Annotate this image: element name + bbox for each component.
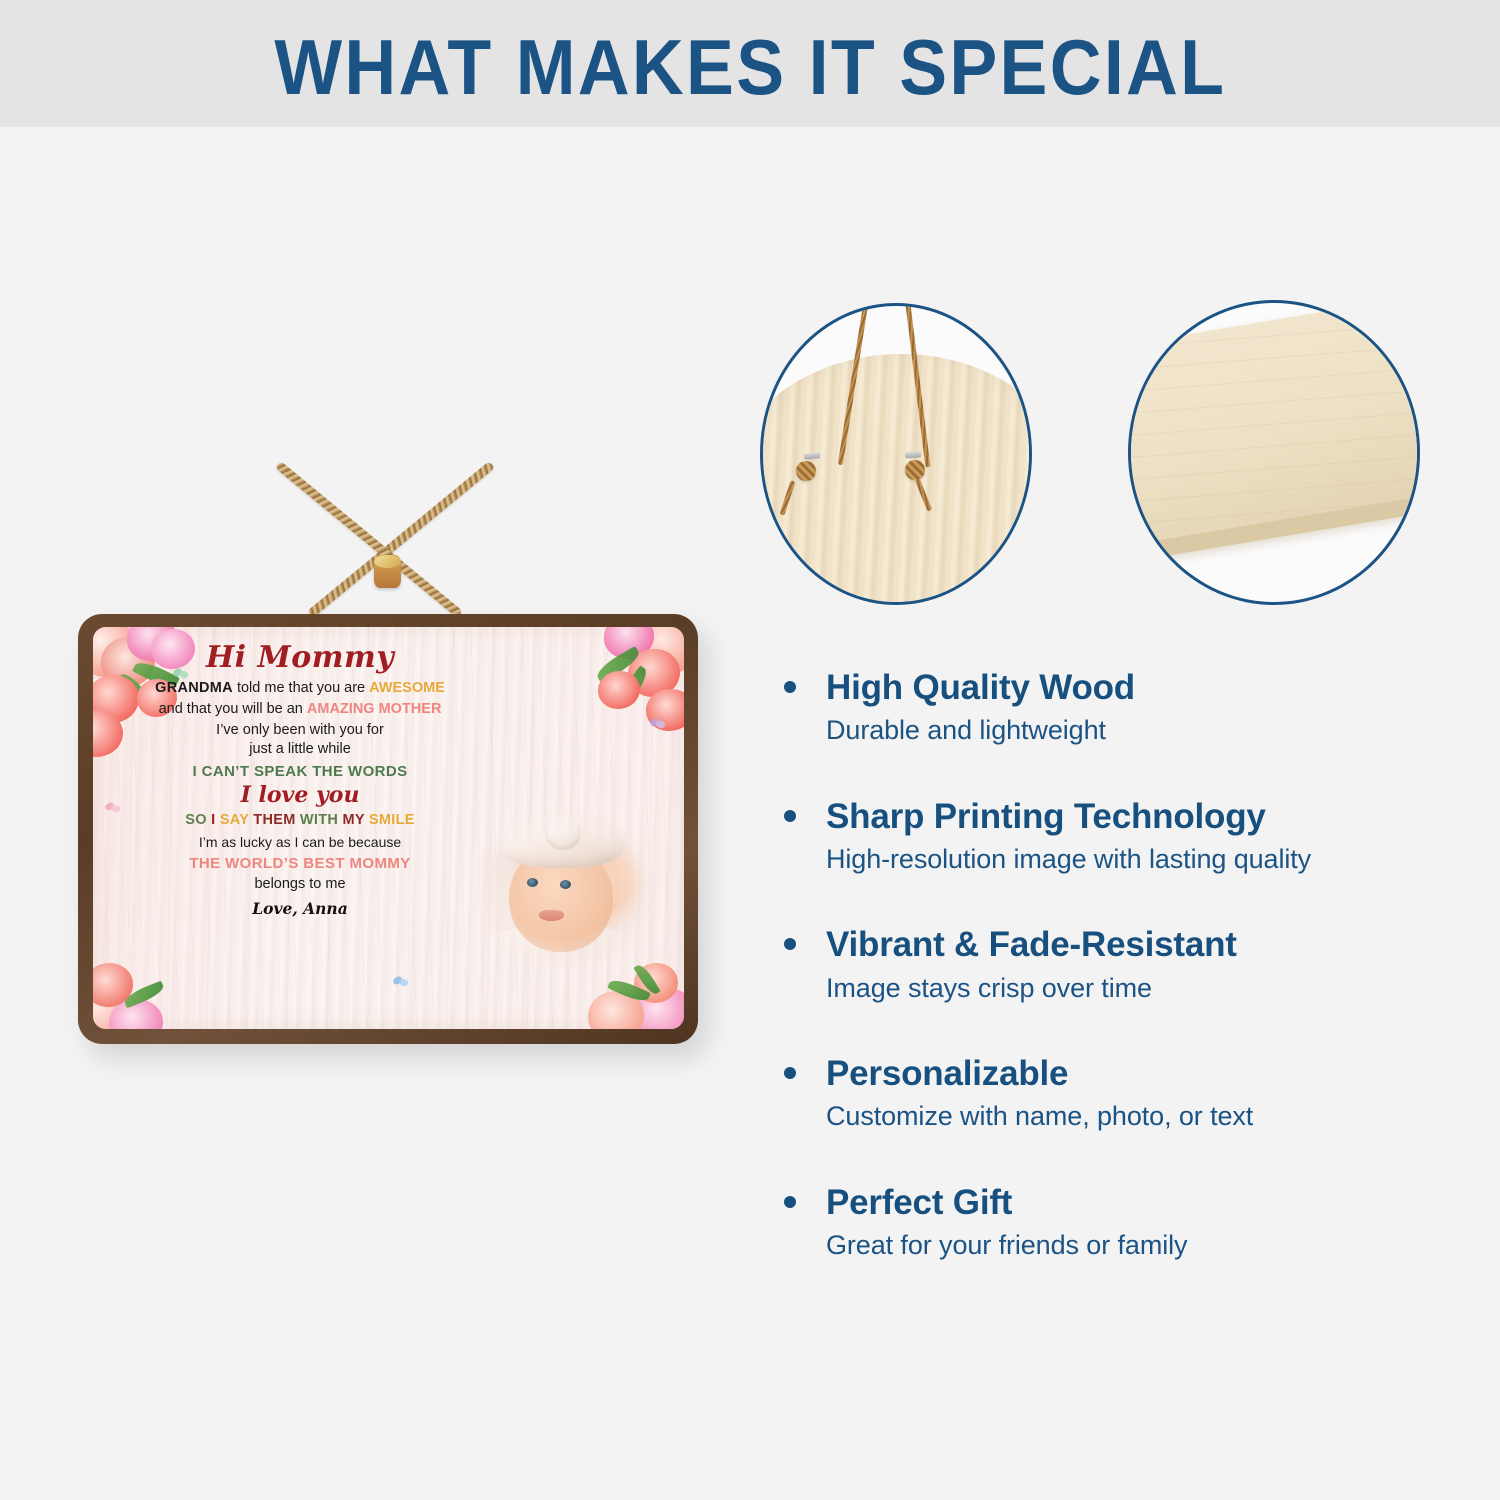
feature-desc: Customize with name, photo, or text (826, 1100, 1480, 1132)
baby-eye-right (560, 880, 571, 889)
staple-right (905, 451, 921, 458)
sign-line-8-w6: MY (343, 812, 365, 828)
sign-greeting: Hi Mommy (109, 641, 491, 675)
feature-title: Perfect Gift (826, 1183, 1480, 1223)
feature-desc: Image stays crisp over time (826, 972, 1480, 1004)
sign-line-2-awesome: AWESOME (369, 680, 445, 696)
wood-board-edge (1128, 300, 1420, 564)
baby-headband-bow (499, 814, 625, 868)
bullet-icon (784, 1196, 796, 1208)
sign-line-8-w2: I (211, 812, 215, 828)
gold-knob-icon (374, 555, 401, 588)
sign-message: Hi Mommy GRANDMA told me that you are AW… (109, 641, 491, 917)
baby-eye-left (527, 878, 538, 887)
sign-line-5: just a little while (109, 741, 491, 758)
feature-desc: High-resolution image with lasting quali… (826, 843, 1480, 875)
sign-line-10: THE WORLD’S BEST MOMMY (109, 855, 491, 872)
sign-line-8-w7: SMILE (369, 812, 415, 828)
bullet-icon (784, 681, 796, 693)
sign-line-8-w1: SO (185, 812, 207, 828)
detail-circle-rope-knot (760, 303, 1032, 605)
sign-face: Hi Mommy GRANDMA told me that you are AW… (93, 627, 684, 1029)
baby-mouth (539, 910, 564, 921)
feature-list: High Quality Wood Durable and lightweigh… (780, 668, 1480, 1261)
sign-line-3-amazing-mother: AMAZING MOTHER (307, 701, 442, 717)
rope-left (307, 461, 495, 618)
sign-line-2: GRANDMA told me that you are AWESOME (109, 680, 491, 697)
rope-knot-left (796, 461, 816, 481)
feature-item-2: Vibrant & Fade-Resistant Image stays cri… (780, 925, 1480, 1004)
sign-line-11: belongs to me (109, 876, 491, 893)
sign-line-9: I’m as lucky as I can be because (109, 835, 491, 851)
feature-item-1: Sharp Printing Technology High-resolutio… (780, 797, 1480, 876)
sign-signature: Love, Anna (109, 900, 491, 918)
bullet-icon (784, 1067, 796, 1079)
bullet-icon (784, 938, 796, 950)
sign-line-8-w5: WITH (300, 812, 338, 828)
sign-line-8: SO I SAY THEM WITH MY SMILE (109, 812, 491, 829)
product-hero: Hi Mommy GRANDMA told me that you are AW… (0, 127, 750, 1500)
feature-item-3: Personalizable Customize with name, phot… (780, 1054, 1480, 1133)
sign-line-3-lead: and that you will be an (159, 701, 307, 717)
feature-title: Sharp Printing Technology (826, 797, 1480, 837)
feature-desc: Great for your friends or family (826, 1229, 1480, 1261)
sign-line-2-mid: told me that you are (233, 680, 369, 696)
rope-right (275, 461, 463, 618)
sign-line-4: I’ve only been with you for (109, 722, 491, 739)
sign-line-8-w4: THEM (253, 812, 295, 828)
feature-title: Vibrant & Fade-Resistant (826, 925, 1480, 965)
baby-photo (465, 802, 662, 977)
sign-line-7: I love you (109, 783, 491, 808)
feature-desc: Durable and lightweight (826, 714, 1480, 746)
page-title: WHAT MAKES IT SPECIAL (274, 22, 1226, 106)
sign-line-2-grandma: GRANDMA (155, 680, 233, 696)
feature-title: High Quality Wood (826, 668, 1480, 708)
header-band: WHAT MAKES IT SPECIAL (0, 0, 1500, 127)
detail-circle-wood-edge (1128, 300, 1420, 605)
rope-knot-right (905, 460, 925, 480)
sign-line-6: I CAN’T SPEAK THE WORDS (109, 763, 491, 780)
sign-line-3: and that you will be an AMAZING MOTHER (109, 701, 491, 718)
sign-line-8-w3: SAY (220, 812, 249, 828)
feature-item-0: High Quality Wood Durable and lightweigh… (780, 668, 1480, 747)
feature-title: Personalizable (826, 1054, 1480, 1094)
feature-item-4: Perfect Gift Great for your friends or f… (780, 1183, 1480, 1262)
bullet-icon (784, 810, 796, 822)
wooden-sign: Hi Mommy GRANDMA told me that you are AW… (78, 614, 698, 1044)
